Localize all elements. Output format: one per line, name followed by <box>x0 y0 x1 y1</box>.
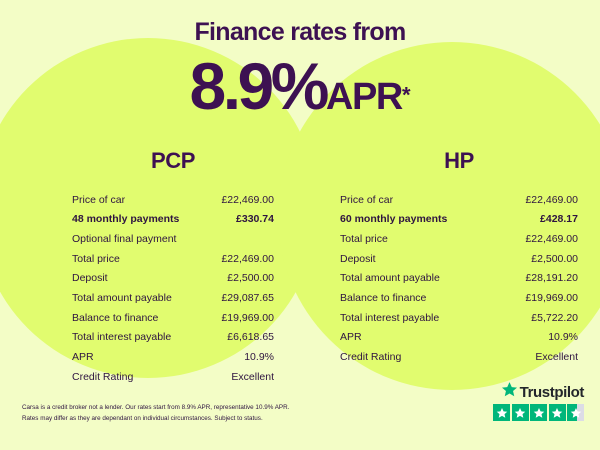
row-value: £2,500.00 <box>227 273 274 284</box>
plan-title-hp: HP <box>340 148 578 174</box>
plan-column-pcp: PCP Price of car £22,469.00 48 monthly p… <box>0 148 300 387</box>
star-icon-2 <box>512 404 529 421</box>
star-icon-1 <box>493 404 510 421</box>
table-row: Balance to finance £19,969.00 <box>340 288 578 308</box>
row-value: £5,722.20 <box>531 313 578 324</box>
table-row: Credit Rating Excellent <box>72 367 274 387</box>
row-value: £22,469.00 <box>525 195 578 206</box>
disclaimer-text: Carsa is a credit broker not a lender. O… <box>22 402 352 424</box>
table-row: Deposit £2,500.00 <box>340 249 578 269</box>
row-value: £22,469.00 <box>525 234 578 245</box>
row-value: £19,969.00 <box>221 313 274 324</box>
table-row: Optional final payment <box>72 229 274 249</box>
row-label: Credit Rating <box>72 372 133 383</box>
rate-asterisk: * <box>402 83 411 108</box>
row-value: £29,087.65 <box>221 293 274 304</box>
row-value: £28,191.20 <box>525 273 578 284</box>
row-value: 10.9% <box>548 332 578 343</box>
row-value: £6,618.65 <box>227 332 274 343</box>
rate-apr-label: APR <box>326 76 402 118</box>
row-label: Balance to finance <box>72 313 158 324</box>
table-row: Price of car £22,469.00 <box>340 190 578 210</box>
trustpilot-stars <box>484 404 584 421</box>
row-value: £330.74 <box>236 214 274 225</box>
row-label: Price of car <box>72 195 125 206</box>
row-value: £22,469.00 <box>221 254 274 265</box>
star-icon-4 <box>549 404 566 421</box>
row-label: Total interest payable <box>340 313 439 324</box>
trustpilot-star-icon <box>501 381 518 403</box>
finance-rates-poster: Finance rates from 8.9%APR* PCP Price of… <box>0 0 600 450</box>
row-label: Total amount payable <box>340 273 440 284</box>
headline-rate: 8.9%APR* <box>0 48 600 124</box>
star-icon-5-partial <box>567 404 584 421</box>
rate-value: 8.9% <box>189 49 325 123</box>
row-value: Excellent <box>535 352 578 363</box>
trustpilot-rating[interactable]: Trustpilot <box>484 383 584 421</box>
star-icon-3 <box>530 404 547 421</box>
table-row: Balance to finance £19,969.00 <box>72 308 274 328</box>
trustpilot-name: Trustpilot <box>520 385 584 400</box>
row-label: APR <box>72 352 94 363</box>
row-label: Total price <box>340 234 388 245</box>
disclaimer-line-1: Carsa is a credit broker not a lender. O… <box>22 402 352 413</box>
row-label: 60 monthly payments <box>340 214 447 225</box>
row-label: Deposit <box>72 273 108 284</box>
table-row: Credit Rating Excellent <box>340 348 578 368</box>
row-value: 10.9% <box>244 352 274 363</box>
table-row: Deposit £2,500.00 <box>72 269 274 289</box>
table-row: Total interest payable £5,722.20 <box>340 308 578 328</box>
page-title: Finance rates from <box>0 18 600 47</box>
row-value: Excellent <box>231 372 274 383</box>
row-value: £19,969.00 <box>525 293 578 304</box>
disclaimer-line-2: Rates may differ as they are dependant o… <box>22 413 352 424</box>
table-row: Total amount payable £29,087.65 <box>72 288 274 308</box>
row-label: Price of car <box>340 195 393 206</box>
table-row: Total price £22,469.00 <box>72 249 274 269</box>
poster-content: Finance rates from 8.9%APR* PCP Price of… <box>0 0 600 450</box>
row-label: Credit Rating <box>340 352 401 363</box>
row-label: Balance to finance <box>340 293 426 304</box>
table-row: APR 10.9% <box>72 348 274 368</box>
plan-rows-pcp: Price of car £22,469.00 48 monthly payme… <box>72 190 274 387</box>
table-row: APR 10.9% <box>340 328 578 348</box>
table-row: Price of car £22,469.00 <box>72 190 274 210</box>
row-label: APR <box>340 332 362 343</box>
table-row: 60 monthly payments £428.17 <box>340 210 578 230</box>
row-value: £22,469.00 <box>221 195 274 206</box>
row-label: Deposit <box>340 254 376 265</box>
plan-column-hp: HP Price of car £22,469.00 60 monthly pa… <box>300 148 600 387</box>
row-label: Total interest payable <box>72 332 171 343</box>
table-row: Total amount payable £28,191.20 <box>340 269 578 289</box>
row-label: Total price <box>72 254 120 265</box>
row-label: Total amount payable <box>72 293 172 304</box>
plans-container: PCP Price of car £22,469.00 48 monthly p… <box>0 148 600 387</box>
plan-title-pcp: PCP <box>72 148 274 174</box>
row-label: 48 monthly payments <box>72 214 179 225</box>
row-label: Optional final payment <box>72 234 176 245</box>
table-row: Total price £22,469.00 <box>340 229 578 249</box>
table-row: 48 monthly payments £330.74 <box>72 210 274 230</box>
row-value: £2,500.00 <box>531 254 578 265</box>
plan-rows-hp: Price of car £22,469.00 60 monthly payme… <box>340 190 578 367</box>
row-value: £428.17 <box>540 214 578 225</box>
table-row: Total interest payable £6,618.65 <box>72 328 274 348</box>
trustpilot-wordmark: Trustpilot <box>484 383 584 401</box>
